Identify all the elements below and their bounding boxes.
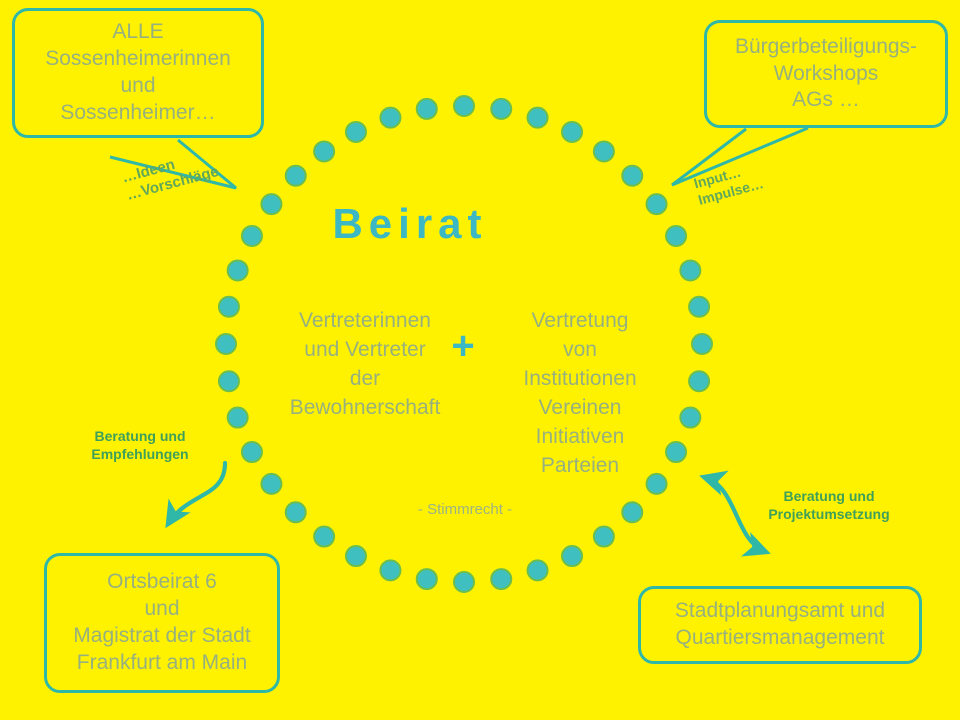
center-footnote-stimmrecht: - Stimmrecht - bbox=[365, 500, 565, 521]
ring-dot bbox=[680, 260, 700, 280]
ring-dot bbox=[346, 122, 366, 142]
ring-dot bbox=[286, 502, 306, 522]
ring-dot bbox=[219, 371, 239, 391]
diagram-canvas: ALLE Sossenheimerinnen und Sossenheimer…… bbox=[0, 0, 960, 720]
ring-dot bbox=[622, 166, 642, 186]
arrow-beirat-to-ortsbeirat bbox=[168, 463, 225, 524]
ring-dot bbox=[454, 96, 474, 116]
ring-dot bbox=[417, 569, 437, 589]
ring-dot bbox=[286, 166, 306, 186]
ring-dot bbox=[622, 502, 642, 522]
ring-dot bbox=[692, 334, 712, 354]
ring-dot bbox=[491, 569, 511, 589]
box-stadtplanungsamt-text: Stadtplanungsamt und Quartiersmanagement bbox=[665, 598, 895, 652]
box-ortsbeirat-text: Ortsbeirat 6 und Magistrat der Stadt Fra… bbox=[63, 569, 260, 677]
ring-dot bbox=[228, 260, 248, 280]
arrow-label-beratung-empfehlungen: Beratung und Empfehlungen bbox=[70, 427, 210, 463]
ring-dot bbox=[528, 108, 548, 128]
ring-dot bbox=[216, 334, 236, 354]
ring-dot bbox=[528, 560, 548, 580]
ring-dot bbox=[454, 572, 474, 592]
ring-dot bbox=[380, 560, 400, 580]
speech-bubble-residents: ALLE Sossenheimerinnen und Sossenheimer… bbox=[12, 8, 264, 138]
ring-dot bbox=[594, 527, 614, 547]
ring-dot bbox=[689, 371, 709, 391]
ring-dot bbox=[219, 297, 239, 317]
diagram-title-text: Beirat bbox=[332, 200, 487, 248]
ring-dot bbox=[261, 474, 281, 494]
center-column-residents: Vertreterinnen und Vertreter der Bewohne… bbox=[265, 307, 465, 423]
ring-dot bbox=[562, 546, 582, 566]
diagram-title: Beirat bbox=[0, 200, 960, 248]
ring-dot bbox=[491, 99, 511, 119]
box-ortsbeirat: Ortsbeirat 6 und Magistrat der Stadt Fra… bbox=[44, 553, 280, 693]
ring-dot bbox=[689, 297, 709, 317]
ring-dot bbox=[242, 442, 262, 462]
arrow-label-beratung-projektumsetzung: Beratung und Projektumsetzung bbox=[745, 487, 913, 523]
center-column-institutions: Vertretung von Institutionen Vereinen In… bbox=[480, 307, 680, 481]
ring-dot bbox=[417, 99, 437, 119]
ring-dot bbox=[680, 408, 700, 428]
ring-dot bbox=[314, 141, 334, 161]
speech-bubble-workshops-text: Bürgerbeteiligungs- Workshops AGs … bbox=[725, 34, 927, 115]
ring-dot bbox=[380, 108, 400, 128]
ring-dot bbox=[346, 546, 366, 566]
ring-dot bbox=[228, 408, 248, 428]
ring-dot bbox=[594, 141, 614, 161]
box-stadtplanungsamt: Stadtplanungsamt und Quartiersmanagement bbox=[638, 586, 922, 664]
ring-dot bbox=[562, 122, 582, 142]
speech-bubble-workshops: Bürgerbeteiligungs- Workshops AGs … bbox=[704, 20, 948, 128]
ring-dot bbox=[314, 527, 334, 547]
speech-bubble-residents-text: ALLE Sossenheimerinnen und Sossenheimer… bbox=[35, 19, 241, 127]
